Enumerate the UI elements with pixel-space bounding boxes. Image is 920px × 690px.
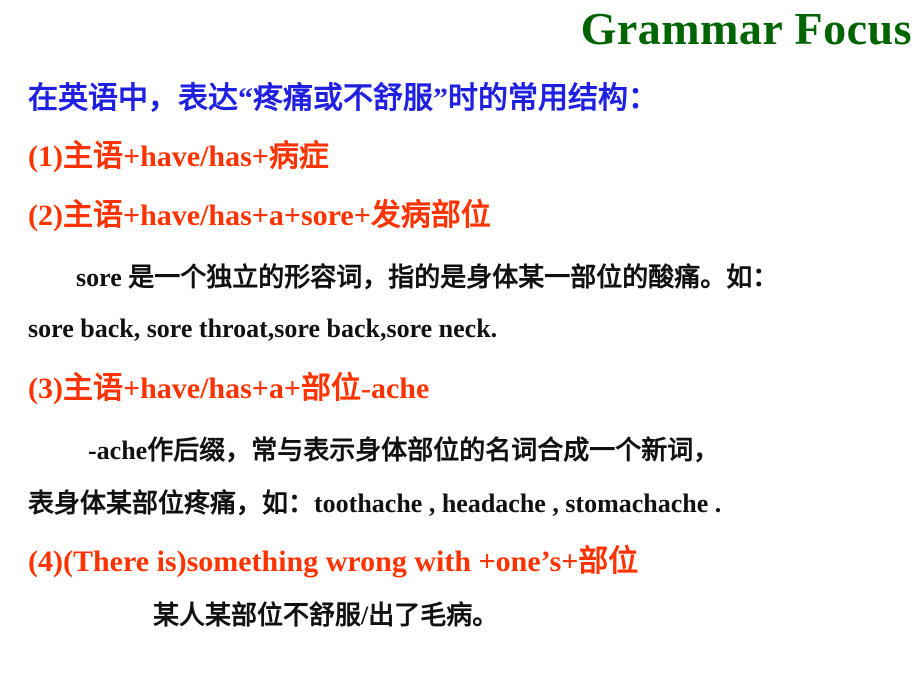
- text-line-note-ache-1: -ache作后缀，常与表示身体部位的名词合成一个新词，: [28, 423, 920, 478]
- text-line-examples-sore: sore back, sore throat,sore back,sore ne…: [28, 301, 920, 356]
- slide-canvas: Grammar Focus 在英语中，表达“疼痛或不舒服”时的常用结构： (1)…: [0, 0, 920, 690]
- text-line-structure-3: (3)主语+have/has+a+部位-ache: [28, 360, 920, 417]
- text-line-structure-4: (4)(There is)something wrong with +one’s…: [28, 533, 920, 590]
- text-line-note-sore-1: sore 是一个独立的形容词，指的是身体某一部位的酸痛。如：: [28, 250, 920, 305]
- slide-body: 在英语中，表达“疼痛或不舒服”时的常用结构： (1)主语+have/has+病症…: [28, 70, 920, 643]
- text-line-note-wrong: 某人某部位不舒服/出了毛病。: [28, 588, 920, 643]
- page-title: Grammar Focus: [0, 2, 912, 56]
- text-line-structure-1: (1)主语+have/has+病症: [28, 128, 920, 185]
- text-line-note-ache-2: 表身体某部位疼痛，如：toothache , headache , stomac…: [28, 476, 920, 531]
- text-line-structure-2: (2)主语+have/has+a+sore+发病部位: [28, 187, 920, 244]
- text-line-intro: 在英语中，表达“疼痛或不舒服”时的常用结构：: [28, 70, 920, 128]
